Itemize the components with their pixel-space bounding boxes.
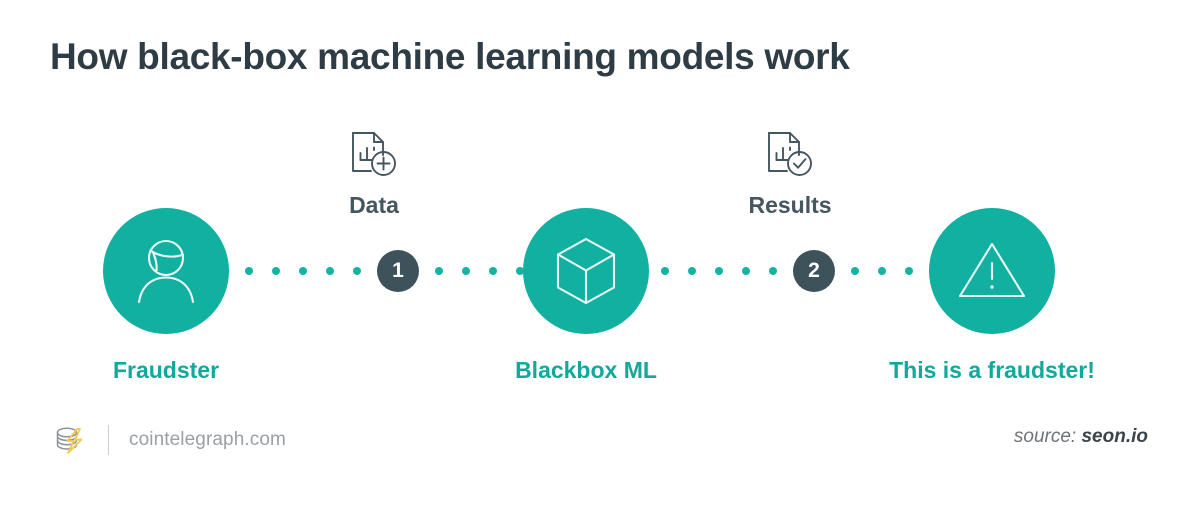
- connector-dot: [715, 267, 723, 275]
- node-caption-alert: This is a fraudster!: [869, 357, 1115, 384]
- connector-dot: [489, 267, 497, 275]
- document-chart-check-icon: [700, 128, 880, 184]
- connector-dot: [742, 267, 750, 275]
- dots-after-2: [851, 267, 940, 275]
- connector-dot: [905, 267, 913, 275]
- step-label-results: Results: [700, 192, 880, 219]
- connector-dot: [272, 267, 280, 275]
- page-title: How black-box machine learning models wo…: [50, 36, 850, 78]
- source-credit: source: seon.io: [1014, 426, 1148, 448]
- connector-dot: [353, 267, 361, 275]
- connector-dot: [769, 267, 777, 275]
- step-badge-2: 2: [793, 250, 835, 292]
- connector-dot: [462, 267, 470, 275]
- connector-dot: [851, 267, 859, 275]
- connector-dot: [299, 267, 307, 275]
- node-fraudster: [103, 208, 229, 334]
- person-icon: [133, 236, 199, 306]
- node-caption-blackbox: Blackbox ML: [473, 357, 699, 384]
- connector-dot: [661, 267, 669, 275]
- brand-block: cointelegraph.com: [52, 416, 286, 464]
- node-caption-fraudster: Fraudster: [103, 357, 229, 384]
- source-prefix: source:: [1014, 426, 1082, 447]
- connector-dot: [326, 267, 334, 275]
- step-badge-1: 1: [377, 250, 419, 292]
- node-blackbox: [523, 208, 649, 334]
- node-alert: [929, 208, 1055, 334]
- connector-dot: [245, 267, 253, 275]
- dots-before-2: [661, 267, 777, 275]
- infographic-canvas: How black-box machine learning models wo…: [0, 0, 1200, 513]
- footer-divider: [108, 425, 109, 455]
- cointelegraph-logo-icon: [52, 421, 90, 459]
- connector-dot: [435, 267, 443, 275]
- flow-diagram: Fraudster Data: [0, 120, 1200, 400]
- dots-before-1: [245, 267, 361, 275]
- connector-dot: [878, 267, 886, 275]
- connector-step-1: 1: [245, 248, 515, 294]
- source-name: seon.io: [1081, 426, 1148, 447]
- step-head-results: Results: [700, 128, 880, 219]
- cube-icon: [554, 236, 618, 306]
- dots-after-1: [435, 267, 524, 275]
- warning-triangle-icon: [957, 239, 1027, 303]
- document-chart-plus-icon: [284, 128, 464, 184]
- connector-step-2: 2: [661, 248, 931, 294]
- connector-dot: [688, 267, 696, 275]
- step-label-data: Data: [284, 192, 464, 219]
- brand-url: cointelegraph.com: [129, 429, 286, 451]
- footer: cointelegraph.com source: seon.io: [0, 416, 1200, 472]
- step-head-data: Data: [284, 128, 464, 219]
